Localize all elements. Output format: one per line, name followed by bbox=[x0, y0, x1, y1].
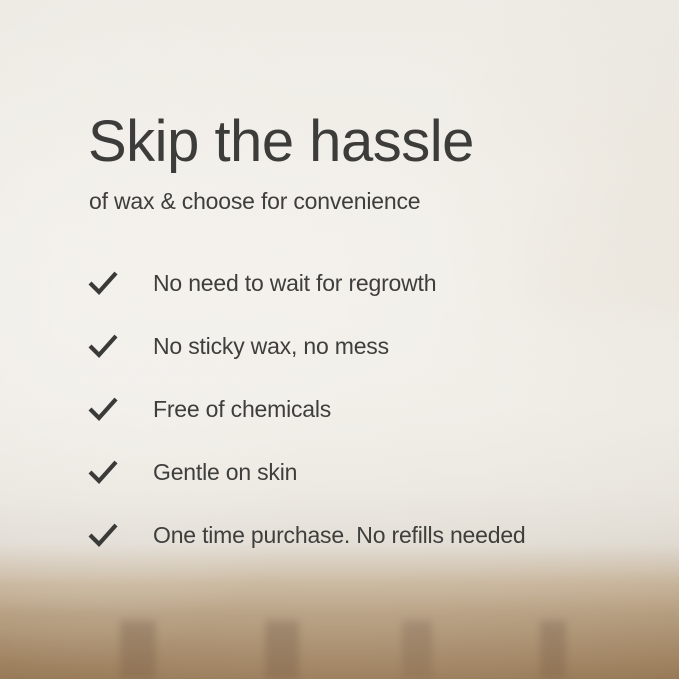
benefits-list: No need to wait for regrowth No sticky w… bbox=[88, 252, 628, 567]
list-item-label: No need to wait for regrowth bbox=[153, 270, 436, 297]
overlay-content: Skip the hassle of wax & choose for conv… bbox=[0, 0, 679, 679]
check-icon bbox=[88, 271, 132, 297]
list-item-label: Free of chemicals bbox=[153, 396, 331, 423]
list-item: One time purchase. No refills needed bbox=[88, 504, 628, 567]
page-subtitle: of wax & choose for convenience bbox=[89, 188, 420, 215]
list-item-label: No sticky wax, no mess bbox=[153, 333, 389, 360]
list-item: No sticky wax, no mess bbox=[88, 315, 628, 378]
check-icon bbox=[88, 334, 132, 360]
check-icon bbox=[88, 523, 132, 549]
product-infographic-image: Skip the hassle of wax & choose for conv… bbox=[0, 0, 679, 679]
page-title: Skip the hassle bbox=[88, 112, 474, 173]
list-item: Free of chemicals bbox=[88, 378, 628, 441]
list-item-label: Gentle on skin bbox=[153, 459, 297, 486]
list-item-label: One time purchase. No refills needed bbox=[153, 522, 526, 549]
check-icon bbox=[88, 460, 132, 486]
list-item: Gentle on skin bbox=[88, 441, 628, 504]
list-item: No need to wait for regrowth bbox=[88, 252, 628, 315]
check-icon bbox=[88, 397, 132, 423]
